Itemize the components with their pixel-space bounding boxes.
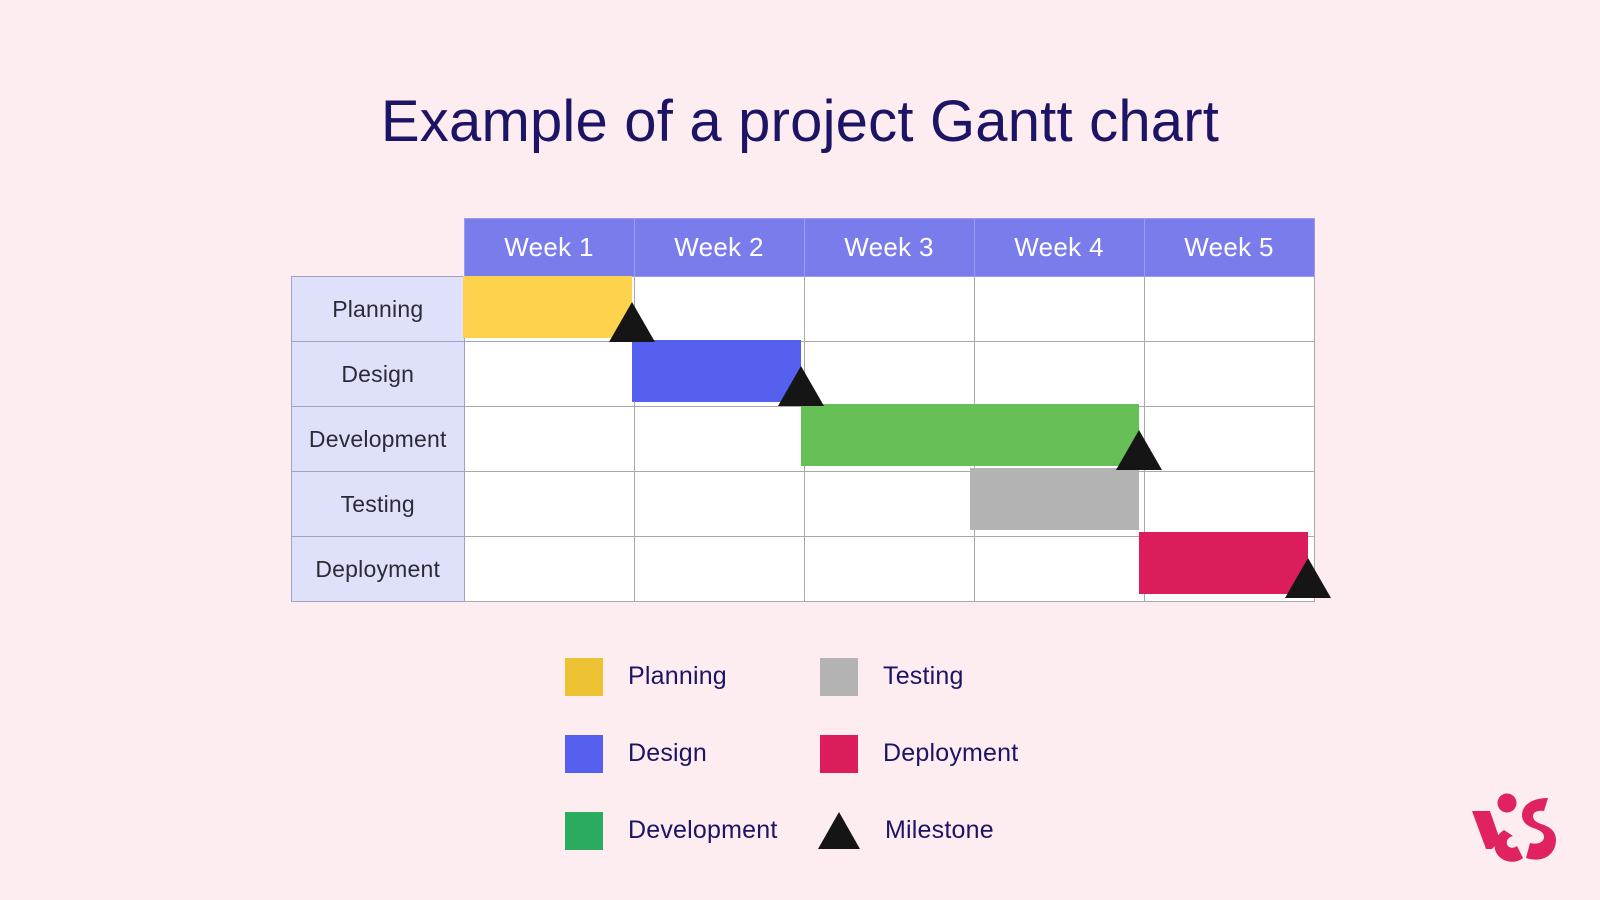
- gantt-bar-deployment[interactable]: [1139, 532, 1308, 594]
- legend-item-development[interactable]: Development: [565, 812, 820, 850]
- gantt-bar-development[interactable]: [801, 404, 1139, 466]
- legend-label-deployment: Deployment: [883, 739, 1018, 768]
- legend-swatch-deployment: [820, 735, 858, 773]
- legend-item-planning[interactable]: Planning: [565, 658, 820, 696]
- chart-legend: Planning Testing Design Deployment Devel…: [565, 638, 1035, 869]
- page-title: Example of a project Gantt chart: [0, 88, 1600, 155]
- legend-label-planning: Planning: [628, 662, 727, 691]
- row-label-development: Development: [292, 407, 465, 472]
- legend-swatch-development: [565, 812, 603, 850]
- cell-deployment-week-4: [974, 537, 1144, 602]
- milestone-marker-design[interactable]: [778, 366, 824, 406]
- legend-label-milestone: Milestone: [885, 816, 994, 845]
- corner-cell: [292, 219, 465, 277]
- legend-item-deployment[interactable]: Deployment: [820, 735, 1035, 773]
- legend-item-design[interactable]: Design: [565, 735, 820, 773]
- gantt-chart-page: Example of a project Gantt chart Week 1 …: [0, 0, 1600, 900]
- legend-label-testing: Testing: [883, 662, 964, 691]
- row-label-deployment: Deployment: [292, 537, 465, 602]
- legend-swatch-design: [565, 735, 603, 773]
- cell-design-week-3: [804, 342, 974, 407]
- legend-label-development: Development: [628, 816, 778, 845]
- legend-swatch-planning: [565, 658, 603, 696]
- vs-logo-icon: [1464, 788, 1556, 866]
- cell-planning-week-2: [634, 277, 804, 342]
- cell-testing-week-1: [464, 472, 634, 537]
- table-row: Planning: [292, 277, 1315, 342]
- cell-testing-week-3: [804, 472, 974, 537]
- milestone-marker-development[interactable]: [1116, 430, 1162, 470]
- cell-design-week-4: [974, 342, 1144, 407]
- cell-planning-week-4: [974, 277, 1144, 342]
- milestone-marker-deployment[interactable]: [1285, 558, 1331, 598]
- gantt-header-row: Week 1 Week 2 Week 3 Week 4 Week 5: [292, 219, 1315, 277]
- column-header-week-4: Week 4: [974, 219, 1144, 277]
- cell-design-week-1: [464, 342, 634, 407]
- gantt-bar-design[interactable]: [632, 340, 801, 402]
- column-header-week-2: Week 2: [634, 219, 804, 277]
- cell-development-week-2: [634, 407, 804, 472]
- column-header-week-3: Week 3: [804, 219, 974, 277]
- legend-label-design: Design: [628, 739, 707, 768]
- cell-testing-week-5: [1144, 472, 1314, 537]
- cell-planning-week-5: [1144, 277, 1314, 342]
- milestone-triangle-icon: [818, 812, 860, 849]
- cell-development-week-1: [464, 407, 634, 472]
- row-label-testing: Testing: [292, 472, 465, 537]
- cell-deployment-week-1: [464, 537, 634, 602]
- legend-swatch-testing: [820, 658, 858, 696]
- cell-deployment-week-3: [804, 537, 974, 602]
- row-label-design: Design: [292, 342, 465, 407]
- legend-item-testing[interactable]: Testing: [820, 658, 1035, 696]
- milestone-marker-planning[interactable]: [609, 302, 655, 342]
- gantt-bar-planning[interactable]: [463, 276, 632, 338]
- cell-testing-week-2: [634, 472, 804, 537]
- cell-deployment-week-2: [634, 537, 804, 602]
- row-label-planning: Planning: [292, 277, 465, 342]
- table-row: Testing: [292, 472, 1315, 537]
- legend-item-milestone[interactable]: Milestone: [820, 812, 1035, 849]
- cell-development-week-5: [1144, 407, 1314, 472]
- cell-planning-week-3: [804, 277, 974, 342]
- gantt-bar-testing[interactable]: [970, 468, 1139, 530]
- column-header-week-1: Week 1: [464, 219, 634, 277]
- cell-design-week-5: [1144, 342, 1314, 407]
- column-header-week-5: Week 5: [1144, 219, 1314, 277]
- gantt-chart: Week 1 Week 2 Week 3 Week 4 Week 5 Plann…: [291, 218, 1289, 602]
- vs-logo-shape: [1472, 794, 1556, 862]
